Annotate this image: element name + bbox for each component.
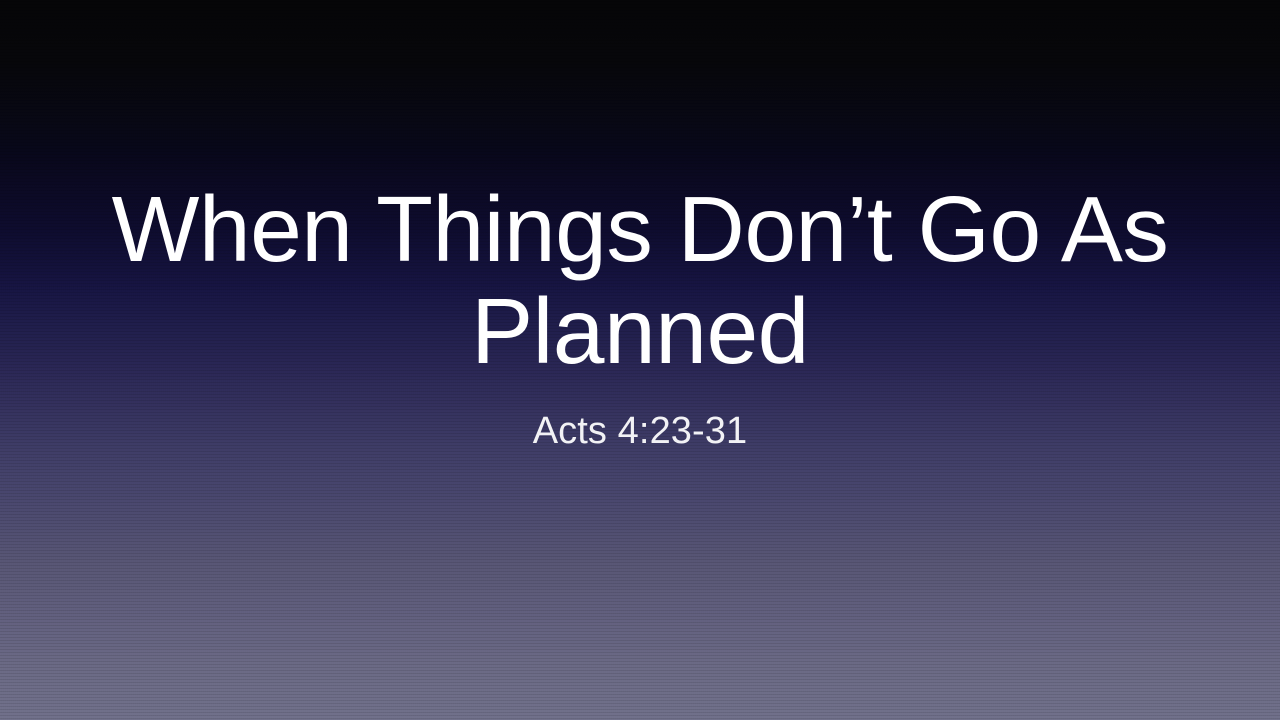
- slide-content: When Things Don’t Go As Planned Acts 4:2…: [0, 0, 1280, 720]
- presentation-slide: When Things Don’t Go As Planned Acts 4:2…: [0, 0, 1280, 720]
- slide-subtitle: Acts 4:23-31: [190, 409, 1090, 455]
- slide-title: When Things Don’t Go As Planned: [80, 178, 1200, 383]
